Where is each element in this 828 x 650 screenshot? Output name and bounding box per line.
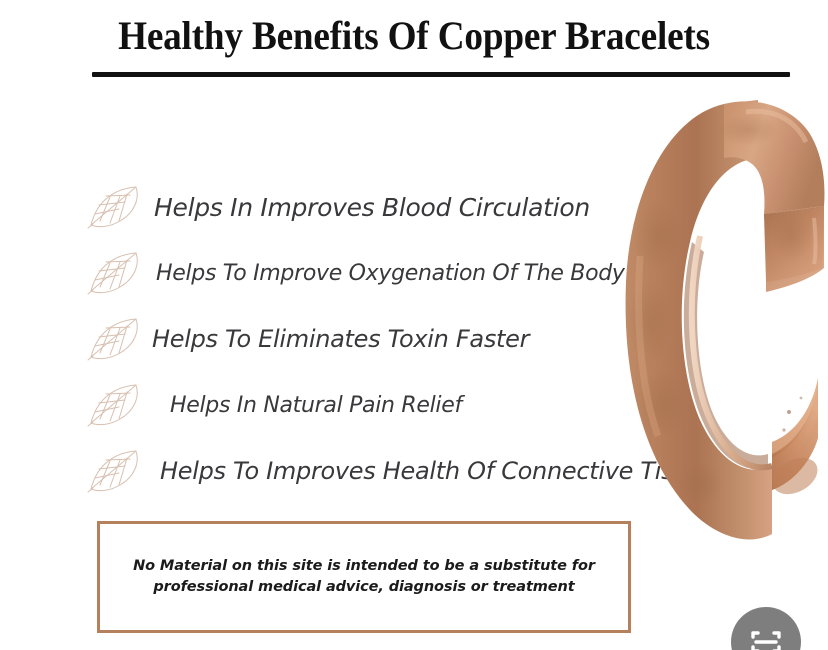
page-title-text: Healthy Benefits Of Copper Bracelets bbox=[29, 14, 799, 58]
leaf-icon bbox=[86, 249, 148, 297]
list-item: Helps To Improves Health Of Connective T… bbox=[86, 438, 646, 504]
leaf-icon bbox=[86, 447, 148, 495]
disclaimer-box: No Material on this site is intended to … bbox=[97, 521, 631, 633]
list-item: Helps In Natural Pain Relief bbox=[86, 372, 646, 438]
leaf-icon bbox=[86, 183, 148, 231]
leaf-icon bbox=[86, 315, 148, 363]
title-divider bbox=[92, 72, 790, 77]
benefits-list: Helps In Improves Blood Circulation bbox=[86, 174, 646, 504]
poster-canvas: Healthy Benefits Of Copper Bracelets bbox=[0, 0, 828, 650]
benefit-label: Helps In Improves Blood Circulation bbox=[154, 193, 590, 222]
benefit-label: Helps To Eliminates Toxin Faster bbox=[152, 325, 529, 353]
list-item: Helps In Improves Blood Circulation bbox=[86, 174, 646, 240]
leaf-icon bbox=[86, 381, 148, 429]
list-item: Helps To Eliminates Toxin Faster bbox=[86, 306, 646, 372]
benefit-label: Helps To Improve Oxygenation Of The Body bbox=[156, 261, 625, 286]
page-title: Healthy Benefits Of Copper Bracelets bbox=[0, 14, 828, 58]
disclaimer-text: No Material on this site is intended to … bbox=[100, 556, 628, 598]
list-item: Helps To Improve Oxygenation Of The Body bbox=[86, 240, 646, 306]
lens-badge-icon[interactable] bbox=[731, 607, 801, 650]
benefit-label: Helps In Natural Pain Relief bbox=[170, 393, 462, 418]
copper-bracelet-image bbox=[596, 86, 828, 566]
